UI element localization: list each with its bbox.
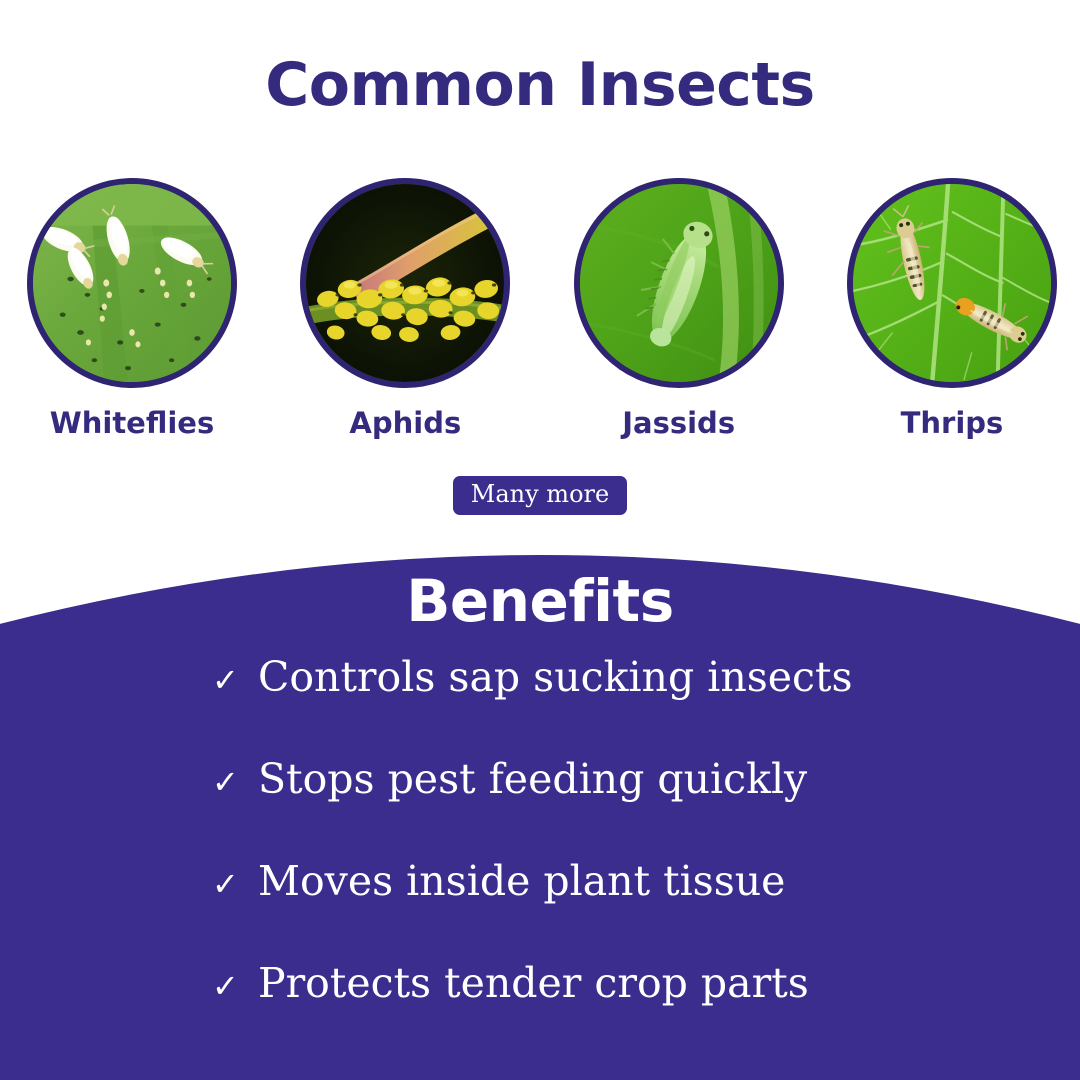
check-icon: ✓ xyxy=(212,970,258,1002)
insect-card-aphids[interactable]: Aphids xyxy=(299,178,511,440)
insect-card-thrips[interactable]: Thrips xyxy=(846,178,1058,440)
insect-grid: Whiteflies xyxy=(26,178,1058,440)
benefit-text: Stops pest feeding quickly xyxy=(258,757,807,802)
many-more-badge[interactable]: Many more xyxy=(453,476,627,515)
check-icon: ✓ xyxy=(212,664,258,696)
insect-label-jassids: Jassids xyxy=(622,408,735,440)
common-insects-section: Common Insects xyxy=(0,0,1080,620)
benefit-text: Protects tender crop parts xyxy=(258,961,809,1006)
benefit-text: Moves inside plant tissue xyxy=(258,859,785,904)
benefits-title: Benefits xyxy=(0,572,1080,630)
insect-label-thrips: Thrips xyxy=(901,408,1004,440)
many-more-container: Many more xyxy=(0,476,1080,515)
benefit-item: ✓ Stops pest feeding quickly xyxy=(0,757,1080,859)
thrips-photo-icon xyxy=(847,178,1057,388)
benefit-item: ✓ Moves inside plant tissue xyxy=(0,859,1080,961)
page-title: Common Insects xyxy=(0,55,1080,115)
benefit-text: Controls sap sucking insects xyxy=(258,655,853,700)
whiteflies-photo-icon xyxy=(27,178,237,388)
benefits-list: ✓ Controls sap sucking insects ✓ Stops p… xyxy=(0,655,1080,1063)
check-icon: ✓ xyxy=(212,766,258,798)
benefit-item: ✓ Protects tender crop parts xyxy=(0,961,1080,1063)
insect-label-aphids: Aphids xyxy=(349,408,461,440)
aphids-photo-icon xyxy=(300,178,510,388)
jassids-photo-icon xyxy=(574,178,784,388)
insect-card-jassids[interactable]: Jassids xyxy=(573,178,785,440)
infographic-poster: Common Insects xyxy=(0,0,1080,1080)
insect-label-whiteflies: Whiteflies xyxy=(50,408,214,440)
insect-card-whiteflies[interactable]: Whiteflies xyxy=(26,178,238,440)
check-icon: ✓ xyxy=(212,868,258,900)
benefit-item: ✓ Controls sap sucking insects xyxy=(0,655,1080,757)
